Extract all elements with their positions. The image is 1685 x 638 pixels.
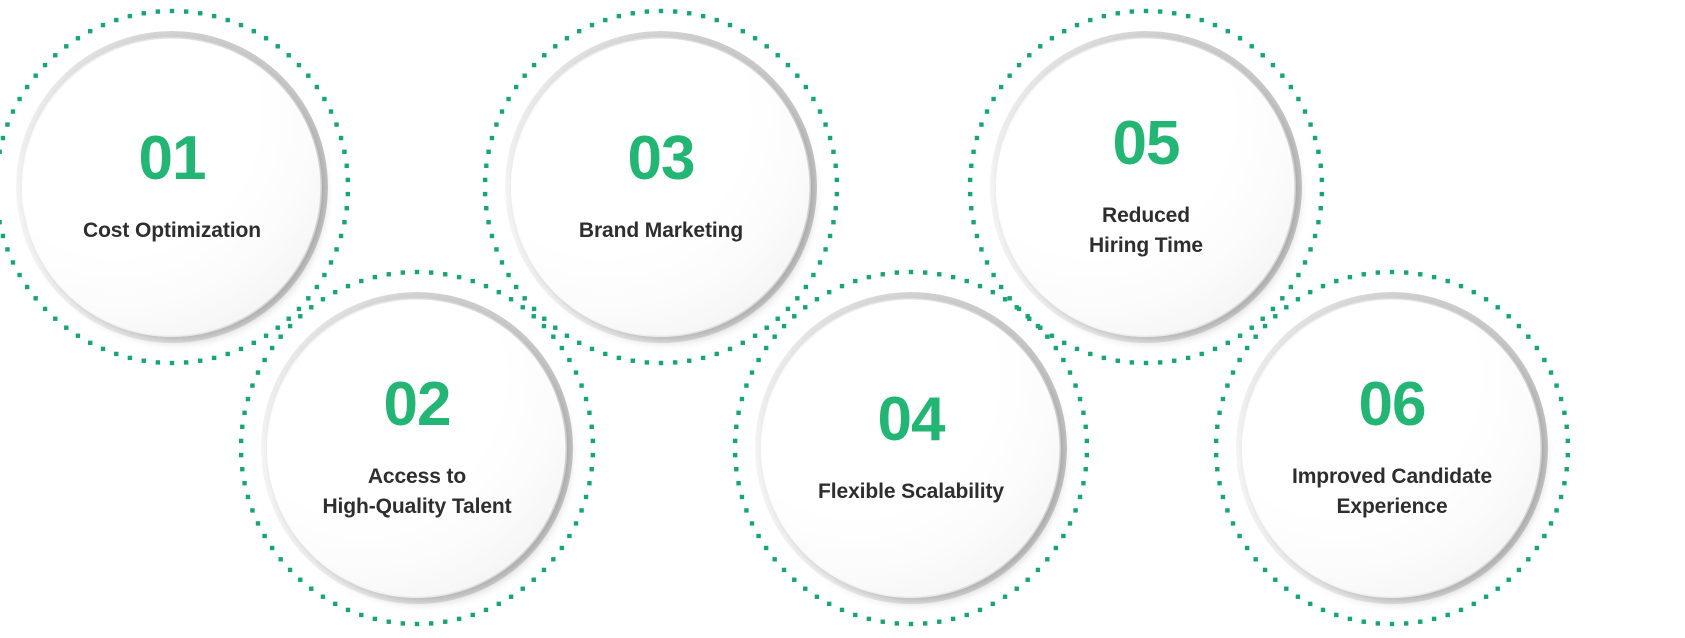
step-label: Improved Candidate Experience <box>1292 462 1492 522</box>
infographic-canvas: 01Cost Optimization02Access to High-Qual… <box>0 0 1685 638</box>
step-number: 02 <box>384 374 451 436</box>
step-label: Brand Marketing <box>579 216 743 246</box>
step-disc[interactable]: 04Flexible Scalability <box>761 298 1061 598</box>
step-disc[interactable]: 06Improved Candidate Experience <box>1242 298 1542 598</box>
step-content: 02Access to High-Quality Talent <box>267 298 567 598</box>
step-content: 04Flexible Scalability <box>761 298 1061 598</box>
step-label: Cost Optimization <box>83 216 261 246</box>
step-circle-04[interactable]: 04Flexible Scalability <box>731 268 1091 628</box>
step-number: 01 <box>139 128 206 190</box>
step-number: 05 <box>1113 113 1180 175</box>
step-circle-02[interactable]: 02Access to High-Quality Talent <box>237 268 597 628</box>
step-number: 03 <box>628 128 695 190</box>
step-label: Flexible Scalability <box>818 477 1004 507</box>
step-label: Access to High-Quality Talent <box>322 462 511 522</box>
step-content: 06Improved Candidate Experience <box>1242 298 1542 598</box>
step-disc[interactable]: 02Access to High-Quality Talent <box>267 298 567 598</box>
step-label: Reduced Hiring Time <box>1089 201 1203 261</box>
step-number: 06 <box>1359 374 1426 436</box>
step-circle-06[interactable]: 06Improved Candidate Experience <box>1212 268 1572 628</box>
step-number: 04 <box>878 389 945 451</box>
